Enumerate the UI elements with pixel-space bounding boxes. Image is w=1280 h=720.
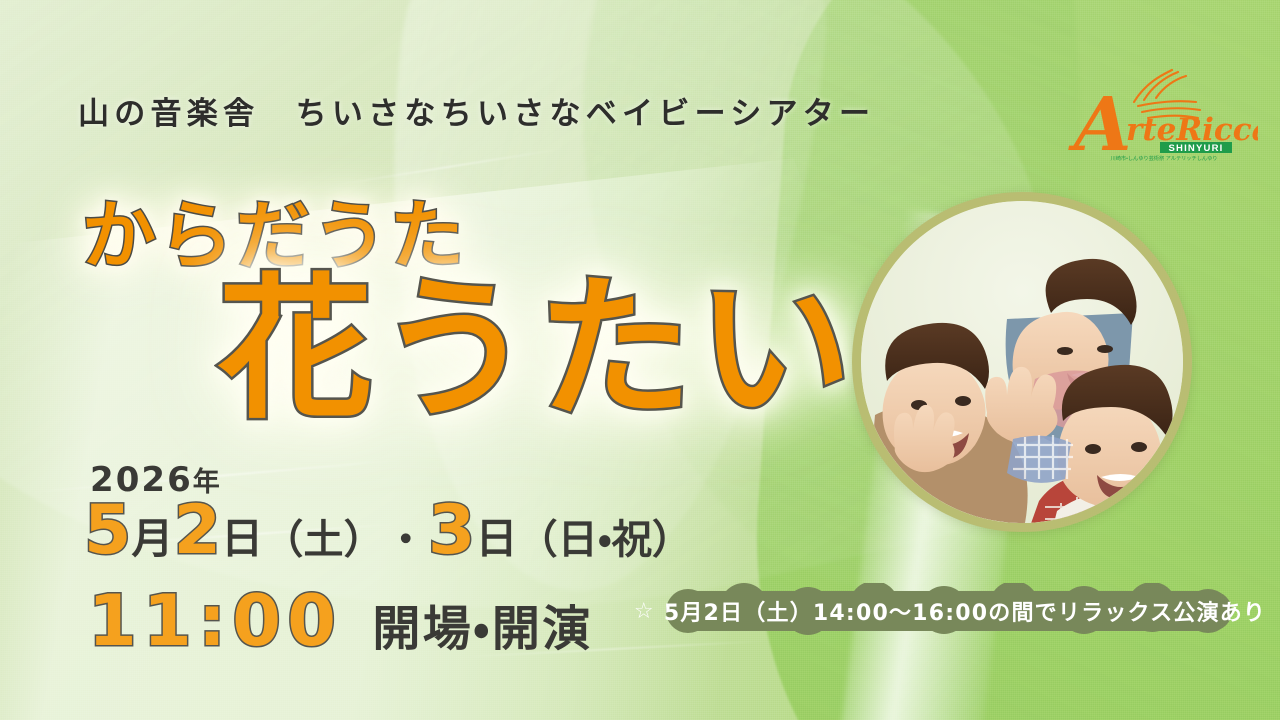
- event-time-row: 11:00 開場・開演: [88, 586, 593, 659]
- logo-subtext: 川崎市・しんゆり芸術祭 アルテリッチしんゆり: [1111, 154, 1218, 162]
- baby-left-hand: [894, 405, 955, 472]
- event-day2-number: 3: [428, 498, 475, 565]
- banner-label: 5月2日（土）14:00〜16:00の間でリラックス公演あり: [664, 595, 1266, 627]
- babies-photo-circle: [852, 192, 1192, 532]
- gingham-cloth: [1007, 435, 1073, 483]
- babies-photo: [861, 201, 1183, 523]
- producer-and-series-line: 山の音楽舎 ちいさなちいさなベイビーシアター: [78, 88, 875, 133]
- event-dates: 5 月 2 日 （土） ・ 3 日 （日・祝）: [84, 498, 692, 566]
- artericca-logo[interactable]: A rteRicca SHINYURI 川崎市・しんゆり芸術祭 アルテリッチしん…: [1068, 58, 1258, 162]
- event-day1-weekday: （土）: [263, 507, 383, 565]
- baby-center-hand: [985, 367, 1057, 443]
- logo-region-label: SHINYURI: [1169, 143, 1224, 154]
- poster-canvas: 山の音楽舎 ちいさなちいさなベイビーシアター A rteRicca SHINYU…: [0, 0, 1280, 720]
- event-month-number: 5: [84, 498, 131, 565]
- logo-letter-a: A: [1068, 82, 1131, 162]
- event-time-label: 開場・開演: [342, 589, 592, 659]
- star-icon: ☆: [634, 599, 655, 624]
- logo-wordmark: A: [1068, 82, 1131, 162]
- event-time: 11:00: [88, 586, 342, 656]
- relax-performance-banner: ☆ 5月2日（土）14:00〜16:00の間でリラックス公演あり: [648, 583, 1248, 639]
- event-date-separator: ・: [384, 507, 428, 565]
- event-day1-number: 2: [174, 498, 221, 565]
- event-month-unit: 月: [131, 505, 173, 566]
- main-title-hanautai: 花うたい: [218, 272, 857, 427]
- banner-content: ☆ 5月2日（土）14:00〜16:00の間でリラックス公演あり: [648, 583, 1248, 639]
- event-day2-unit: 日: [475, 505, 517, 566]
- event-day1-unit: 日: [221, 505, 263, 566]
- wheat-sprig-icon: [1134, 70, 1200, 118]
- event-day2-weekday: （日・祝）: [518, 507, 692, 565]
